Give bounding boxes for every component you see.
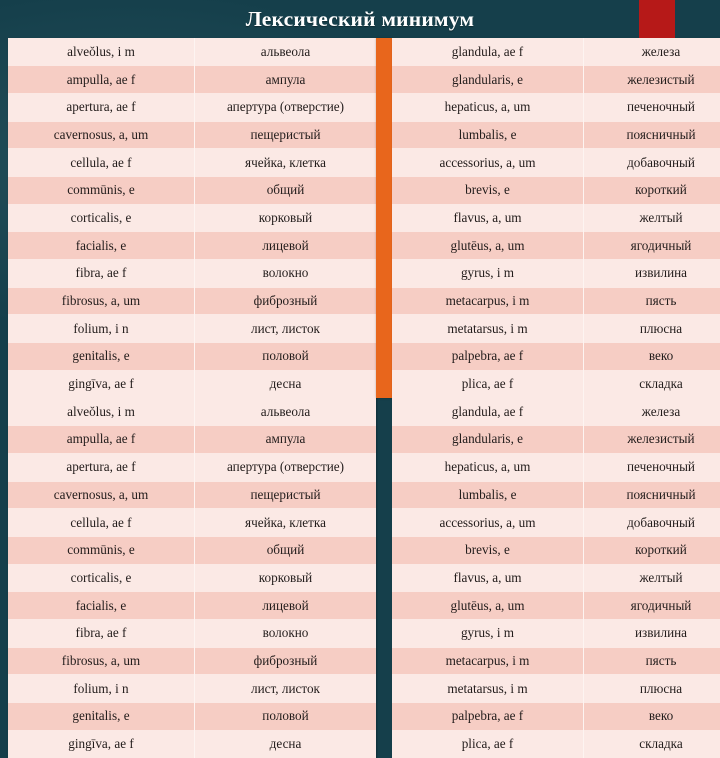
- table-row: brevis, eкороткий: [392, 176, 720, 204]
- russian-translation-cell: складка: [584, 370, 720, 398]
- table-row: metatarsus, i mплюсна: [392, 315, 720, 343]
- latin-term-cell: cellula, ae f: [8, 509, 195, 537]
- vocabulary-tables: alveŏlus, i mальвеолаampulla, ae fампула…: [8, 38, 712, 398]
- russian-translation-cell: ампула: [195, 66, 377, 94]
- russian-translation-cell: ячейка, клетка: [195, 509, 377, 537]
- table-row: genitalis, eполовой: [8, 343, 376, 371]
- table-row: folium, i nлист, листок: [8, 675, 376, 703]
- table-row: accessorius, a, umдобавочный: [392, 509, 720, 537]
- latin-term-cell: cellula, ae f: [8, 149, 195, 177]
- russian-translation-cell: складка: [584, 730, 720, 758]
- table-row: flavus, a, umжелтый: [392, 204, 720, 232]
- russian-translation-cell: извилина: [584, 619, 720, 647]
- latin-term-cell: glutēus, a, um: [392, 232, 584, 260]
- latin-term-cell: plica, ae f: [392, 370, 584, 398]
- latin-term-cell: gingīva, ae f: [8, 730, 195, 758]
- russian-translation-cell: печеночный: [584, 93, 720, 121]
- russian-translation-cell: железистый: [584, 66, 720, 94]
- table-row: facialis, eлицевой: [8, 592, 376, 620]
- latin-term-cell: plica, ae f: [392, 730, 584, 758]
- latin-term-cell: brevis, e: [392, 176, 584, 204]
- table-row: gyrus, i mизвилина: [392, 260, 720, 288]
- russian-translation-cell: железистый: [584, 426, 720, 454]
- latin-term-cell: corticalis, e: [8, 564, 195, 592]
- latin-term-cell: genitalis, e: [8, 343, 195, 371]
- table-left-body: alveŏlus, i mальвеолаampulla, ae fампула…: [8, 38, 376, 398]
- latin-term-cell: gyrus, i m: [392, 260, 584, 288]
- russian-translation-cell: лицевой: [195, 232, 377, 260]
- table-row: commūnis, eобщий: [8, 536, 376, 564]
- latin-term-cell: glandula, ae f: [392, 398, 584, 426]
- russian-translation-cell: лист, листок: [195, 315, 377, 343]
- russian-translation-cell: короткий: [584, 176, 720, 204]
- latin-term-cell: accessorius, a, um: [392, 509, 584, 537]
- russian-translation-cell: волокно: [195, 619, 377, 647]
- table-row: glutēus, a, umягодичный: [392, 592, 720, 620]
- table-row: fibrosus, a, umфиброзный: [8, 287, 376, 315]
- latin-term-cell: palpebra, ae f: [392, 343, 584, 371]
- table-row: corticalis, eкорковый: [8, 204, 376, 232]
- russian-translation-cell: апертура (отверстие): [195, 93, 377, 121]
- latin-term-cell: commūnis, e: [8, 536, 195, 564]
- russian-translation-cell: пещеристый: [195, 121, 377, 149]
- latin-term-cell: flavus, a, um: [392, 564, 584, 592]
- russian-translation-cell: половой: [195, 703, 377, 731]
- table-row: palpebra, ae fвеко: [392, 343, 720, 371]
- latin-term-cell: metatarsus, i m: [392, 315, 584, 343]
- russian-translation-cell: поясничный: [584, 481, 720, 509]
- table-row: apertura, ae fапертура (отверстие): [8, 93, 376, 121]
- russian-translation-cell: альвеола: [195, 38, 377, 66]
- latin-term-cell: metatarsus, i m: [392, 675, 584, 703]
- table-row: folium, i nлист, листок: [8, 315, 376, 343]
- table-row: cavernosus, a, umпещеристый: [8, 121, 376, 149]
- table-row: metacarpus, i mпясть: [392, 287, 720, 315]
- latin-term-cell: facialis, e: [8, 592, 195, 620]
- table-row: apertura, ae fапертура (отверстие): [8, 453, 376, 481]
- latin-term-cell: ampulla, ae f: [8, 66, 195, 94]
- table-row: cellula, ae fячейка, клетка: [8, 509, 376, 537]
- table-row: brevis, eкороткий: [392, 536, 720, 564]
- latin-term-cell: glandularis, e: [392, 426, 584, 454]
- russian-translation-cell: желтый: [584, 564, 720, 592]
- latin-term-cell: folium, i n: [8, 675, 195, 703]
- table-row: accessorius, a, umдобавочный: [392, 149, 720, 177]
- russian-translation-cell: пещеристый: [195, 481, 377, 509]
- vocabulary-table-left: alveŏlus, i mальвеолаampulla, ae fампула…: [8, 38, 376, 758]
- table-row: commūnis, eобщий: [8, 176, 376, 204]
- table-row: plica, ae fскладка: [392, 370, 720, 398]
- table-row: lumbalis, eпоясничный: [392, 121, 720, 149]
- russian-translation-cell: желтый: [584, 204, 720, 232]
- table-row: glandula, ae fжелеза: [392, 398, 720, 426]
- russian-translation-cell: апертура (отверстие): [195, 453, 377, 481]
- table-row: cavernosus, a, umпещеристый: [8, 481, 376, 509]
- table-right-body: glandula, ae fжелезаglandularis, eжелези…: [392, 38, 720, 398]
- latin-term-cell: folium, i n: [8, 315, 195, 343]
- table-row: genitalis, eполовой: [8, 703, 376, 731]
- latin-term-cell: facialis, e: [8, 232, 195, 260]
- russian-translation-cell: лицевой: [195, 592, 377, 620]
- table-row: fibra, ae fволокно: [8, 260, 376, 288]
- russian-translation-cell: десна: [195, 730, 377, 758]
- table-row: facialis, eлицевой: [8, 232, 376, 260]
- russian-translation-cell: ягодичный: [584, 592, 720, 620]
- table-row: plica, ae fскладка: [392, 730, 720, 758]
- russian-translation-cell: ампула: [195, 426, 377, 454]
- orange-divider: [376, 38, 392, 398]
- russian-translation-cell: веко: [584, 343, 720, 371]
- table-row: gingīva, ae fдесна: [8, 370, 376, 398]
- latin-term-cell: accessorius, a, um: [392, 149, 584, 177]
- latin-term-cell: cavernosus, a, um: [8, 481, 195, 509]
- latin-term-cell: fibrosus, a, um: [8, 287, 195, 315]
- russian-translation-cell: железа: [584, 38, 720, 66]
- russian-translation-cell: добавочный: [584, 149, 720, 177]
- table-row: metatarsus, i mплюсна: [392, 675, 720, 703]
- russian-translation-cell: корковый: [195, 564, 377, 592]
- russian-translation-cell: плюсна: [584, 315, 720, 343]
- table-row: palpebra, ae fвеко: [392, 703, 720, 731]
- table-row: corticalis, eкорковый: [8, 564, 376, 592]
- latin-term-cell: gingīva, ae f: [8, 370, 195, 398]
- russian-translation-cell: извилина: [584, 260, 720, 288]
- latin-term-cell: lumbalis, e: [392, 121, 584, 149]
- latin-term-cell: metacarpus, i m: [392, 647, 584, 675]
- latin-term-cell: glandula, ae f: [392, 38, 584, 66]
- russian-translation-cell: добавочный: [584, 509, 720, 537]
- latin-term-cell: brevis, e: [392, 536, 584, 564]
- russian-translation-cell: корковый: [195, 204, 377, 232]
- russian-translation-cell: фиброзный: [195, 647, 377, 675]
- table-row: metacarpus, i mпясть: [392, 647, 720, 675]
- table-row: gingīva, ae fдесна: [8, 730, 376, 758]
- page-title: Лексический минимум: [0, 1, 720, 37]
- latin-term-cell: lumbalis, e: [392, 481, 584, 509]
- table-row: fibra, ae fволокно: [8, 619, 376, 647]
- russian-translation-cell: железа: [584, 398, 720, 426]
- russian-translation-cell: общий: [195, 536, 377, 564]
- slide-canvas: Лексический минимум alveŏlus, i mальвеол…: [0, 0, 720, 405]
- latin-term-cell: alveŏlus, i m: [8, 38, 195, 66]
- russian-translation-cell: пясть: [584, 647, 720, 675]
- table-row: hepaticus, a, umпеченочный: [392, 453, 720, 481]
- russian-translation-cell: общий: [195, 176, 377, 204]
- latin-term-cell: fibra, ae f: [8, 260, 195, 288]
- table-row: ampulla, ae fампула: [8, 66, 376, 94]
- vocabulary-table-right: glandula, ae fжелезаglandularis, eжелези…: [392, 38, 720, 758]
- table-row: glandularis, eжелезистый: [392, 426, 720, 454]
- table-row: glandula, ae fжелеза: [392, 38, 720, 66]
- russian-translation-cell: плюсна: [584, 675, 720, 703]
- latin-term-cell: glandularis, e: [392, 66, 584, 94]
- russian-translation-cell: волокно: [195, 260, 377, 288]
- table-row: hepaticus, a, umпеченочный: [392, 93, 720, 121]
- table-row: gyrus, i mизвилина: [392, 619, 720, 647]
- table-row: ampulla, ae fампула: [8, 426, 376, 454]
- russian-translation-cell: короткий: [584, 536, 720, 564]
- table-row: glandularis, eжелезистый: [392, 66, 720, 94]
- russian-translation-cell: ягодичный: [584, 232, 720, 260]
- russian-translation-cell: веко: [584, 703, 720, 731]
- latin-term-cell: corticalis, e: [8, 204, 195, 232]
- latin-term-cell: apertura, ae f: [8, 93, 195, 121]
- latin-term-cell: fibra, ae f: [8, 619, 195, 647]
- latin-term-cell: hepaticus, a, um: [392, 453, 584, 481]
- latin-term-cell: genitalis, e: [8, 703, 195, 731]
- russian-translation-cell: печеночный: [584, 453, 720, 481]
- russian-translation-cell: лист, листок: [195, 675, 377, 703]
- russian-translation-cell: половой: [195, 343, 377, 371]
- latin-term-cell: gyrus, i m: [392, 619, 584, 647]
- latin-term-cell: flavus, a, um: [392, 204, 584, 232]
- russian-translation-cell: фиброзный: [195, 287, 377, 315]
- latin-term-cell: alveŏlus, i m: [8, 398, 195, 426]
- table-row: fibrosus, a, umфиброзный: [8, 647, 376, 675]
- russian-translation-cell: пясть: [584, 287, 720, 315]
- latin-term-cell: fibrosus, a, um: [8, 647, 195, 675]
- table-row: alveŏlus, i mальвеола: [8, 398, 376, 426]
- latin-term-cell: glutēus, a, um: [392, 592, 584, 620]
- latin-term-cell: palpebra, ae f: [392, 703, 584, 731]
- latin-term-cell: hepaticus, a, um: [392, 93, 584, 121]
- table-row: cellula, ae fячейка, клетка: [8, 149, 376, 177]
- russian-translation-cell: ячейка, клетка: [195, 149, 377, 177]
- russian-translation-cell: поясничный: [584, 121, 720, 149]
- table-row: flavus, a, umжелтый: [392, 564, 720, 592]
- table-row: alveŏlus, i mальвеола: [8, 38, 376, 66]
- latin-term-cell: metacarpus, i m: [392, 287, 584, 315]
- latin-term-cell: cavernosus, a, um: [8, 121, 195, 149]
- table-row: glutēus, a, umягодичный: [392, 232, 720, 260]
- table-row: lumbalis, eпоясничный: [392, 481, 720, 509]
- russian-translation-cell: альвеола: [195, 398, 377, 426]
- russian-translation-cell: десна: [195, 370, 377, 398]
- latin-term-cell: ampulla, ae f: [8, 426, 195, 454]
- latin-term-cell: apertura, ae f: [8, 453, 195, 481]
- latin-term-cell: commūnis, e: [8, 176, 195, 204]
